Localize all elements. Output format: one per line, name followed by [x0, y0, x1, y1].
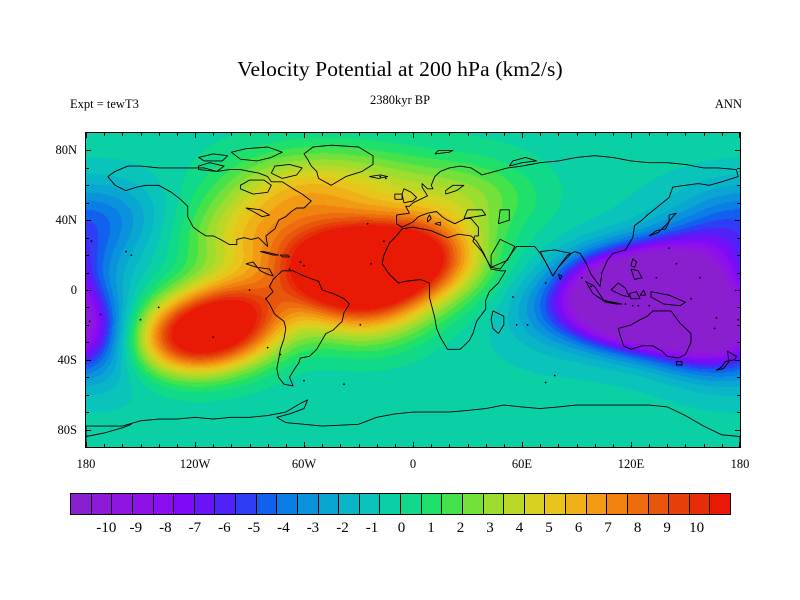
y-axis-minor-tick — [737, 168, 740, 169]
colorbar-tick-label: 7 — [604, 519, 612, 537]
coastline-path — [558, 274, 562, 279]
coastline-path — [716, 351, 736, 370]
colorbar-swatch — [277, 494, 298, 514]
x-axis-minor-tick — [413, 133, 414, 136]
y-axis-tick-label: 40S — [25, 353, 77, 367]
colorbar-tick-label: 0 — [398, 519, 406, 537]
x-axis-minor-tick — [667, 444, 668, 447]
coastline-path — [428, 215, 432, 222]
x-axis-tick-label: 60W — [274, 457, 334, 471]
coastline-path — [509, 157, 536, 166]
x-axis-minor-tick — [268, 133, 269, 136]
colorbar-swatch — [257, 494, 278, 514]
colorbar-swatch — [215, 494, 236, 514]
y-axis-minor-tick — [737, 360, 740, 361]
island-marker — [249, 289, 251, 291]
coastline-path — [498, 210, 509, 224]
colorbar-swatch — [380, 494, 401, 514]
coastline-path — [369, 175, 387, 179]
x-axis-minor-tick — [504, 133, 505, 136]
coastline-path — [246, 208, 270, 217]
x-axis-minor-tick — [159, 444, 160, 447]
island-marker — [516, 324, 518, 326]
island-marker — [367, 223, 369, 225]
x-axis-minor-tick — [286, 444, 287, 447]
x-axis-tick-label: 120E — [601, 457, 661, 471]
x-axis-minor-tick — [104, 444, 105, 447]
island-marker — [527, 324, 529, 326]
colorbar-swatch — [525, 494, 546, 514]
island-marker — [690, 298, 692, 300]
coastline-path — [304, 145, 373, 185]
coastline-path — [382, 227, 506, 349]
island-marker — [512, 296, 514, 298]
island-marker — [359, 324, 361, 326]
x-axis-minor-tick — [377, 133, 378, 136]
y-axis-minor-tick — [86, 185, 89, 186]
x-axis-minor-tick — [667, 133, 668, 136]
coastline-path — [397, 156, 739, 287]
colorbar-tick-label: 9 — [663, 519, 671, 537]
island-marker — [385, 178, 387, 180]
coastline-path — [629, 292, 640, 299]
x-axis-minor-tick — [685, 133, 686, 136]
y-axis-minor-tick — [737, 238, 740, 239]
y-axis-minor-tick — [737, 150, 740, 151]
map-plot-area — [85, 132, 741, 448]
y-axis-minor-tick — [86, 360, 89, 361]
coastline-overlay — [86, 133, 740, 447]
colorbar-tick-label: -2 — [336, 519, 349, 537]
x-axis-minor-tick — [231, 133, 232, 136]
y-axis-minor-tick — [86, 307, 89, 308]
x-axis-minor-tick — [177, 444, 178, 447]
colorbar-swatch — [71, 494, 92, 514]
coastline-path — [240, 180, 271, 194]
x-axis-minor-tick — [558, 444, 559, 447]
x-axis-minor-tick — [395, 133, 396, 136]
y-axis-minor-tick — [86, 150, 89, 151]
island-marker — [737, 319, 739, 321]
colorbar-swatch — [360, 494, 381, 514]
colorbar-swatch — [339, 494, 360, 514]
x-axis-tick-label: 0 — [383, 457, 443, 471]
x-axis-minor-tick — [213, 133, 214, 136]
x-axis-minor-tick — [649, 133, 650, 136]
x-axis-minor-tick — [213, 444, 214, 447]
x-axis-minor-tick — [431, 133, 432, 136]
season-label: ANN — [715, 96, 742, 112]
coastline-path — [676, 362, 682, 366]
island-marker — [699, 277, 701, 279]
x-axis-minor-tick — [577, 444, 578, 447]
coastline-path — [640, 290, 645, 295]
x-axis-minor-tick — [449, 133, 450, 136]
colorbar-tick-label: -6 — [218, 519, 231, 537]
island-marker — [140, 319, 142, 321]
island-marker — [158, 307, 160, 309]
coastline-path — [586, 281, 617, 304]
x-axis-minor-tick — [141, 133, 142, 136]
x-axis-minor-tick — [413, 444, 414, 447]
y-axis-minor-tick — [737, 395, 740, 396]
coastline-path — [649, 213, 676, 236]
coastline-path — [435, 150, 453, 154]
colorbar-tick-label: 3 — [486, 519, 494, 537]
x-axis-minor-tick — [522, 133, 523, 136]
x-axis-minor-tick — [322, 444, 323, 447]
colorbar-tick-label: -8 — [159, 519, 172, 537]
y-axis-minor-tick — [737, 290, 740, 291]
island-marker — [91, 240, 93, 242]
x-axis-minor-tick — [431, 444, 432, 447]
x-axis-minor-tick — [340, 444, 341, 447]
colorbar-swatch — [545, 494, 566, 514]
x-axis-minor-tick — [722, 444, 723, 447]
coastline-path — [271, 164, 302, 178]
x-axis-minor-tick — [340, 133, 341, 136]
x-axis-minor-tick — [250, 133, 251, 136]
x-axis-minor-tick — [540, 133, 541, 136]
colorbar-swatch — [607, 494, 628, 514]
x-axis-minor-tick — [468, 444, 469, 447]
x-axis-minor-tick — [286, 133, 287, 136]
x-axis-minor-tick — [613, 444, 614, 447]
colorbar-swatch — [628, 494, 649, 514]
x-axis-minor-tick — [613, 133, 614, 136]
colorbar-swatch — [174, 494, 195, 514]
x-axis-minor-tick — [322, 133, 323, 136]
colorbar-tick-label: 5 — [545, 519, 553, 537]
x-axis-minor-tick — [595, 133, 596, 136]
y-axis-minor-tick — [737, 307, 740, 308]
x-axis-minor-tick — [739, 444, 740, 447]
colorbar-swatch — [298, 494, 319, 514]
island-marker — [545, 382, 547, 384]
island-marker — [648, 305, 650, 307]
colorbar-tick-label: -5 — [248, 519, 261, 537]
x-axis-tick-label: 180 — [710, 457, 770, 471]
coastline-path — [86, 400, 740, 447]
island-marker — [605, 300, 607, 302]
x-axis-minor-tick — [631, 133, 632, 136]
y-axis-minor-tick — [86, 395, 89, 396]
x-axis-minor-tick — [486, 133, 487, 136]
coastline-path — [464, 210, 486, 219]
colorbar-swatch — [92, 494, 113, 514]
x-axis-minor-tick — [540, 444, 541, 447]
colorbar-tick-label: 8 — [634, 519, 642, 537]
x-axis-minor-tick — [685, 444, 686, 447]
coastline-path — [491, 239, 515, 267]
x-axis-minor-tick — [359, 133, 360, 136]
coastline-path — [402, 189, 417, 203]
colorbar-tick-label: 2 — [457, 519, 465, 537]
y-axis-tick-label: 40N — [25, 213, 77, 227]
x-axis-minor-tick — [739, 133, 740, 136]
colorbar-tick-label: 10 — [689, 519, 704, 537]
y-axis-minor-tick — [86, 203, 89, 204]
x-axis-minor-tick — [122, 133, 123, 136]
y-axis-minor-tick — [86, 430, 89, 431]
coastline-path — [491, 311, 504, 334]
colorbar-swatch — [154, 494, 175, 514]
x-axis-minor-tick — [104, 133, 105, 136]
x-axis-minor-tick — [159, 133, 160, 136]
colorbar-swatch — [236, 494, 257, 514]
x-axis-minor-tick — [704, 444, 705, 447]
x-axis-minor-tick — [704, 133, 705, 136]
y-axis-minor-tick — [737, 412, 740, 413]
colorbar-swatch — [710, 494, 730, 514]
colorbar-swatch — [566, 494, 587, 514]
coastline-path — [435, 222, 441, 226]
y-axis-minor-tick — [86, 220, 89, 221]
colorbar-tick-label: 6 — [575, 519, 583, 537]
x-axis-minor-tick — [395, 444, 396, 447]
island-marker — [625, 303, 627, 305]
island-marker — [265, 298, 267, 300]
colorbar-swatch — [649, 494, 670, 514]
colorbar — [70, 493, 731, 515]
x-axis-minor-tick — [231, 444, 232, 447]
y-axis-minor-tick — [737, 273, 740, 274]
x-axis-minor-tick — [195, 133, 196, 136]
island-marker — [303, 265, 305, 267]
y-axis-tick-label: 80S — [25, 423, 77, 437]
y-axis-minor-tick — [737, 377, 740, 378]
x-axis-minor-tick — [577, 133, 578, 136]
y-axis-minor-tick — [86, 168, 89, 169]
x-axis-tick-label: 180 — [56, 457, 116, 471]
island-marker — [370, 263, 372, 265]
island-marker — [289, 268, 291, 270]
x-axis-minor-tick — [468, 133, 469, 136]
colorbar-swatch — [484, 494, 505, 514]
colorbar-swatch — [319, 494, 340, 514]
x-axis-minor-tick — [86, 133, 87, 136]
island-marker — [383, 240, 385, 242]
x-axis-minor-tick — [631, 444, 632, 447]
colorbar-swatch — [401, 494, 422, 514]
y-axis-minor-tick — [737, 220, 740, 221]
experiment-label: Expt = tewT3 — [70, 96, 139, 112]
island-marker — [554, 375, 556, 377]
colorbar-tick-label: -10 — [96, 519, 116, 537]
page-title: Velocity Potential at 200 hPa (km2/s) — [0, 56, 800, 82]
x-axis-minor-tick — [359, 444, 360, 447]
island-marker — [280, 354, 282, 356]
colorbar-swatch — [669, 494, 690, 514]
coastline-path — [446, 185, 464, 194]
island-marker — [545, 282, 547, 284]
island-marker — [668, 247, 670, 249]
y-axis-minor-tick — [737, 255, 740, 256]
y-axis-minor-tick — [86, 238, 89, 239]
x-axis-minor-tick — [558, 133, 559, 136]
island-marker — [637, 305, 639, 307]
x-axis-minor-tick — [504, 444, 505, 447]
x-axis-minor-tick — [177, 133, 178, 136]
y-axis-minor-tick — [737, 203, 740, 204]
x-axis-minor-tick — [595, 444, 596, 447]
coastline-path — [540, 250, 571, 276]
colorbar-swatch — [504, 494, 525, 514]
x-axis-minor-tick — [86, 444, 87, 447]
coastline-path — [631, 269, 642, 279]
coastline-path — [631, 259, 637, 268]
coastline-path — [651, 292, 686, 306]
island-marker — [379, 176, 381, 178]
colorbar-tick-label: 1 — [427, 519, 435, 537]
x-axis-minor-tick — [722, 133, 723, 136]
y-axis-minor-tick — [737, 325, 740, 326]
colorbar-tick-label: 4 — [516, 519, 524, 537]
island-marker — [89, 321, 91, 323]
x-axis-minor-tick — [122, 444, 123, 447]
island-marker — [581, 277, 583, 279]
coastline-path — [618, 311, 691, 358]
coastline-path — [199, 154, 228, 161]
y-axis-minor-tick — [737, 430, 740, 431]
island-marker — [212, 336, 214, 338]
x-axis-minor-tick — [304, 133, 305, 136]
island-marker — [656, 277, 658, 279]
x-axis-minor-tick — [377, 444, 378, 447]
island-marker — [676, 263, 678, 265]
y-axis-minor-tick — [86, 325, 89, 326]
island-marker — [632, 305, 634, 307]
y-axis-minor-tick — [737, 342, 740, 343]
velocity-potential-figure: Velocity Potential at 200 hPa (km2/s) 23… — [0, 0, 800, 600]
x-axis-minor-tick — [486, 444, 487, 447]
x-axis-minor-tick — [304, 444, 305, 447]
island-marker — [303, 380, 305, 382]
y-axis-minor-tick — [86, 273, 89, 274]
colorbar-tick-label: -4 — [277, 519, 290, 537]
x-axis-minor-tick — [449, 444, 450, 447]
colorbar-tick-label: -9 — [130, 519, 143, 537]
island-marker — [131, 254, 133, 256]
y-axis-minor-tick — [86, 412, 89, 413]
x-axis-minor-tick — [268, 444, 269, 447]
coastline-path — [231, 147, 282, 161]
island-marker — [714, 328, 716, 330]
colorbar-swatches — [70, 493, 731, 515]
island-marker — [343, 383, 345, 385]
y-axis-minor-tick — [86, 255, 89, 256]
y-axis-minor-tick — [86, 377, 89, 378]
colorbar-tick-label: -3 — [307, 519, 320, 537]
x-axis-tick-label: 120W — [165, 457, 225, 471]
coastline-path — [266, 271, 350, 386]
colorbar-swatch — [112, 494, 133, 514]
colorbar-swatch — [133, 494, 154, 514]
island-marker — [267, 347, 269, 349]
colorbar-swatch — [442, 494, 463, 514]
island-marker — [100, 314, 102, 316]
coastline-path — [611, 283, 629, 297]
coastline-path — [260, 252, 278, 256]
colorbar-swatch — [195, 494, 216, 514]
y-axis-minor-tick — [86, 342, 89, 343]
y-axis-tick-label: 80N — [25, 143, 77, 157]
x-axis-minor-tick — [195, 444, 196, 447]
x-axis-minor-tick — [522, 444, 523, 447]
colorbar-tick-label: -1 — [366, 519, 379, 537]
coastline-path — [280, 255, 289, 257]
y-axis-tick-label: 0 — [25, 283, 77, 297]
coastline-path — [395, 194, 402, 199]
coastline-path — [246, 262, 273, 276]
island-marker — [590, 286, 592, 288]
y-axis-minor-tick — [737, 185, 740, 186]
x-axis-minor-tick — [141, 444, 142, 447]
colorbar-swatch — [463, 494, 484, 514]
x-axis-minor-tick — [649, 444, 650, 447]
colorbar-swatch — [690, 494, 711, 514]
y-axis-minor-tick — [86, 290, 89, 291]
x-axis-minor-tick — [250, 444, 251, 447]
colorbar-swatch — [587, 494, 608, 514]
colorbar-tick-label: -7 — [189, 519, 202, 537]
island-marker — [300, 261, 302, 263]
x-axis-tick-label: 60E — [492, 457, 552, 471]
island-marker — [125, 251, 127, 253]
island-marker — [716, 317, 718, 319]
colorbar-swatch — [422, 494, 443, 514]
